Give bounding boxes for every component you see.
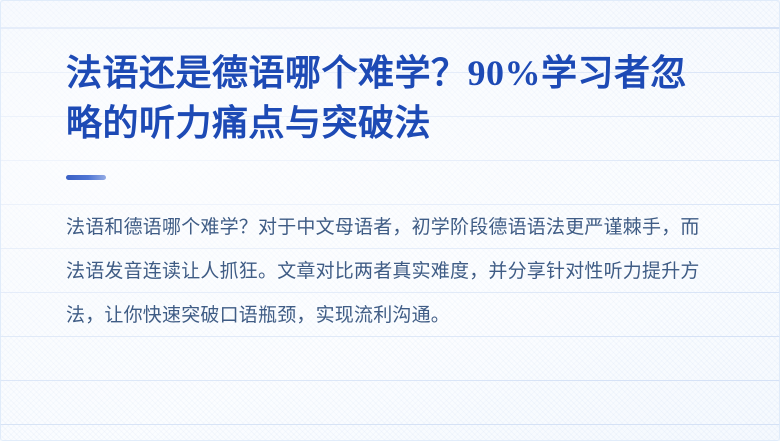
cover-title: 法语还是德语哪个难学？90%学习者忽略的听力痛点与突破法 <box>66 48 714 148</box>
cover-content: 法语还是德语哪个难学？90%学习者忽略的听力痛点与突破法 法语和德语哪个难学？对… <box>66 48 726 338</box>
cover-description: 法语和德语哪个难学？对于中文母语者，初学阶段德语语法更严谨棘手，而法语发音连读让… <box>66 206 714 338</box>
title-divider <box>66 175 726 180</box>
divider-bar <box>66 175 106 180</box>
article-cover-card: 法语还是德语哪个难学？90%学习者忽略的听力痛点与突破法 法语和德语哪个难学？对… <box>0 0 780 441</box>
